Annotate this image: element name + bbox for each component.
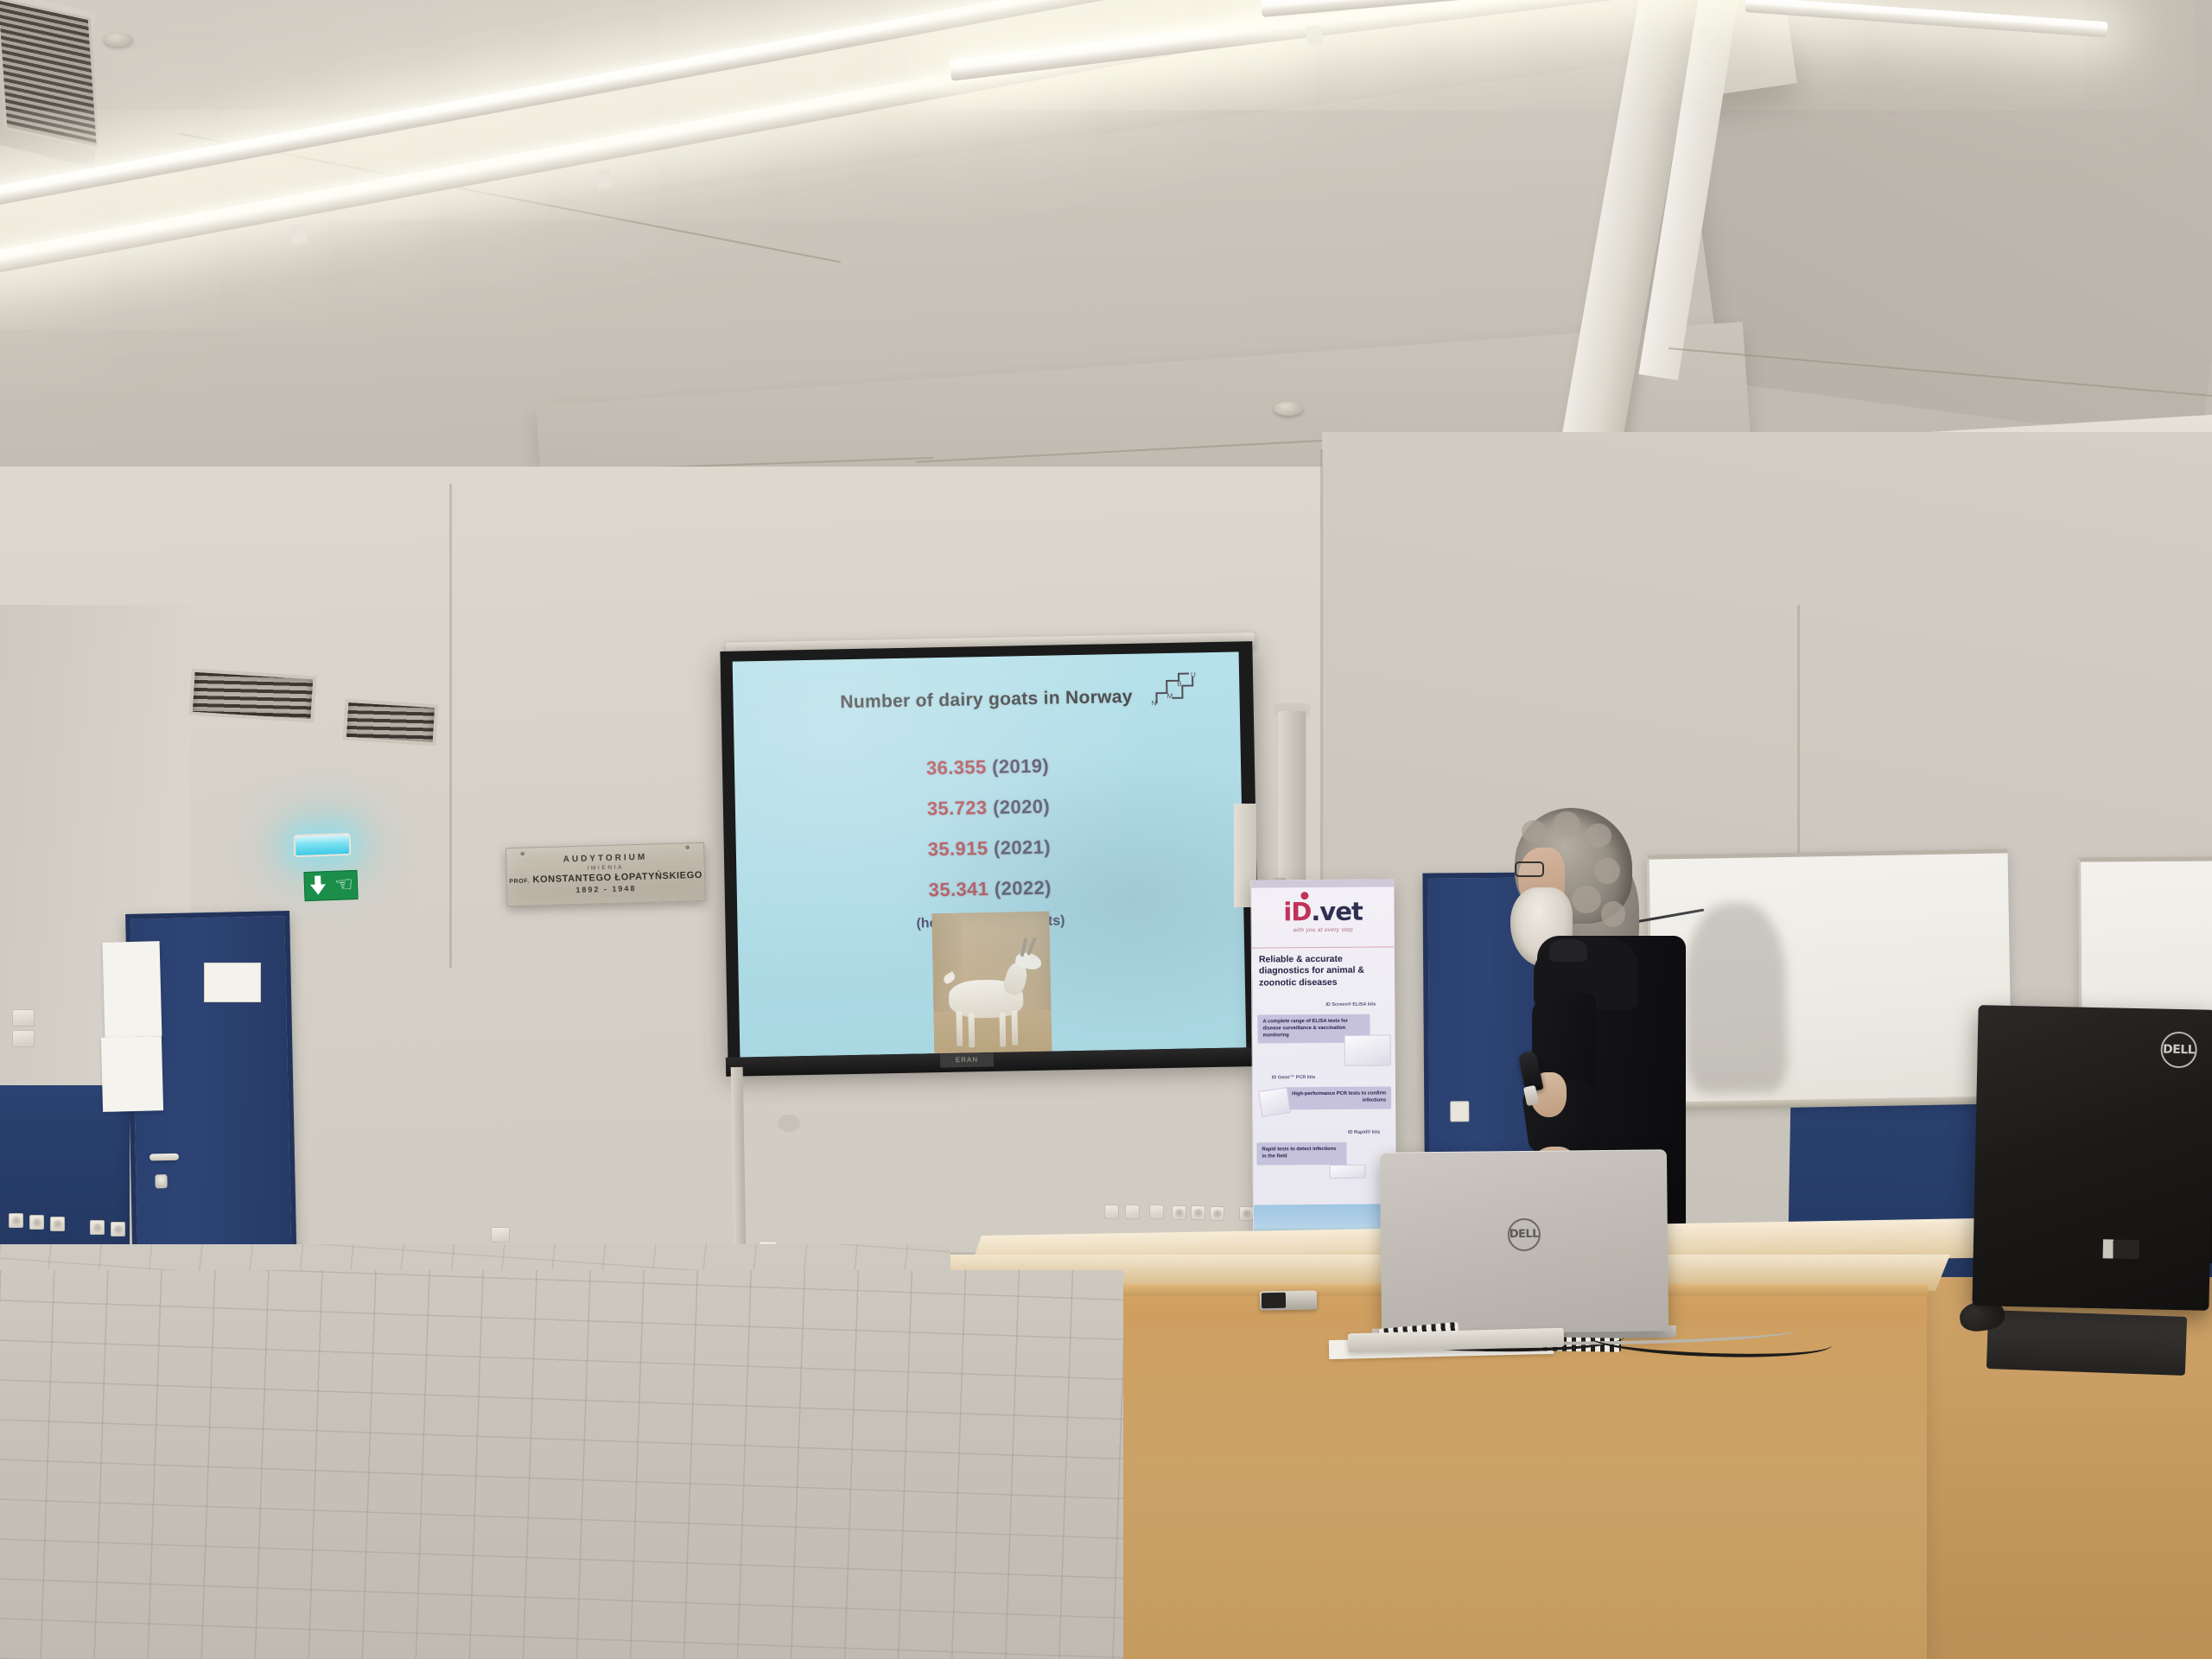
svg-text:N: N [1152,699,1157,707]
stat-year: (2021) [994,836,1051,859]
stat-row: 35.723 (2020) [735,791,1242,823]
banner-logo-dot-icon [1300,892,1308,899]
stat-value: 36.355 [926,756,987,779]
projection-screen: Number of dairy goats in Norway N M B U … [733,652,1247,1057]
dell-logo-icon: DELL [1508,1217,1541,1250]
banner-brand-dot: . [1311,897,1319,926]
banner-product-elisa-plate [1344,1034,1391,1065]
banner-tagline: with you at every step [1252,926,1395,933]
svg-text:B: B [1177,680,1182,688]
svg-text:U: U [1191,671,1196,678]
wall-air-vent-1 [188,669,316,723]
banner-brand-d: D [1291,897,1311,926]
dell-logo-icon: DELL [2160,1032,2197,1069]
floor-tiles [0,1270,1123,1659]
banner-divider [1252,946,1395,948]
door-strike-plate [1450,1101,1469,1122]
light-endcap [594,168,613,190]
presenter-shadow [1682,902,1788,1094]
banner-brand-vet: vet [1319,897,1363,926]
stat-year: (2020) [993,796,1050,818]
wall-data-port[interactable] [1149,1205,1164,1219]
light-endcap [1306,25,1324,46]
nmbu-logo-icon: N M B U [1149,668,1204,710]
stat-year: (2022) [995,877,1052,899]
banner-kit-label-elisa: ID Screen® ELISA kits [1325,1002,1376,1007]
wall-power-outlet[interactable] [1210,1206,1224,1221]
auditorium-memorial-plaque: AUDYTORIUM IMIENIA PROF. KONSTANTEGO ŁOP… [505,842,706,906]
slide-goat-photo [931,912,1052,1058]
banner-product-rapid-strip [1330,1165,1366,1179]
light-endcap [289,224,308,245]
wall-data-port[interactable] [1125,1205,1140,1219]
wall-power-outlet[interactable] [1191,1205,1205,1220]
wall-power-outlet[interactable] [29,1215,44,1230]
door-handle[interactable] [149,1154,179,1161]
banner-top-strip [1251,879,1394,887]
wall-power-outlet[interactable] [111,1222,125,1236]
wall-power-outlet[interactable] [90,1220,105,1235]
slide-statistics-list: 36.355 (2019) 35.723 (2020) 35.915 (2021… [734,751,1244,935]
banner-product-pcr-box [1258,1087,1291,1117]
wall-air-vent-2 [343,699,439,747]
lecture-hall-photo: ☜ AUDYTORIUM IMIENIA PROF. KONSTANTEGO Ł… [0,0,2212,1659]
door-room-sign [204,963,261,1002]
ceiling-air-vent [0,0,99,149]
exit-arrow-icon [304,872,331,900]
projector-remote-buttons[interactable] [1262,1293,1286,1308]
av-equipment-post [1277,710,1306,883]
stat-year: (2019) [992,755,1049,778]
banner-headline: Reliable & accurate diagnostics for anim… [1259,953,1388,988]
door-notice-paper [103,941,162,1038]
banner-kit-label-rapid: ID Rapid® kits [1348,1130,1380,1135]
mousepad [1986,1310,2187,1376]
wall-mark [778,1115,800,1132]
running-man-icon: ☜ [330,871,357,899]
wall-power-outlet[interactable] [9,1213,23,1228]
banner-brand-i: i [1283,897,1291,926]
light-switch[interactable] [12,1030,35,1047]
monitor[interactable]: DELL [1972,1005,2212,1311]
stat-value: 35.915 [928,837,988,860]
eyeglasses-icon [1515,861,1544,877]
wall-power-outlet[interactable] [50,1217,65,1231]
emergency-exit-lamp [294,833,352,857]
banner-section-text-rapid: Rapid tests to detect infections in the … [1256,1142,1346,1165]
wall-power-outlet[interactable] [1172,1205,1186,1220]
stat-row: 35.341 (2022) [737,873,1243,905]
wall-seam-left [449,484,452,968]
svg-text:M: M [1166,692,1173,700]
stat-value: 35.341 [928,878,988,900]
banner-logo: iD.vet with you at every step [1251,896,1394,933]
banner-kit-label-pcr: ID Gene™ PCR kits [1272,1075,1315,1080]
plaque-prefix: PROF. [509,878,530,885]
smoke-detector-icon [104,33,133,47]
projection-screen-pull-tab[interactable]: ERAN [940,1052,994,1067]
door-notice-paper [101,1036,163,1112]
light-switch[interactable] [12,1009,35,1027]
door-lock-icon [155,1174,167,1188]
stat-row: 35.915 (2021) [736,832,1243,864]
ceiling-sensor-icon [1274,402,1303,416]
stat-value: 35.723 [927,797,988,819]
wall-socket[interactable] [491,1227,510,1243]
emergency-exit-sign: ☜ [303,870,358,901]
wall-data-port[interactable] [1104,1205,1119,1219]
wall-power-outlet[interactable] [1239,1206,1254,1221]
banner-section-text-pcr: High-performance PCR tests to confirm in… [1284,1086,1391,1109]
stat-row: 36.355 (2019) [734,751,1241,783]
laptop[interactable]: DELL [1380,1149,1669,1333]
whiteboard-right[interactable] [1646,849,2012,1107]
monitor-label-sticker [2103,1239,2139,1259]
